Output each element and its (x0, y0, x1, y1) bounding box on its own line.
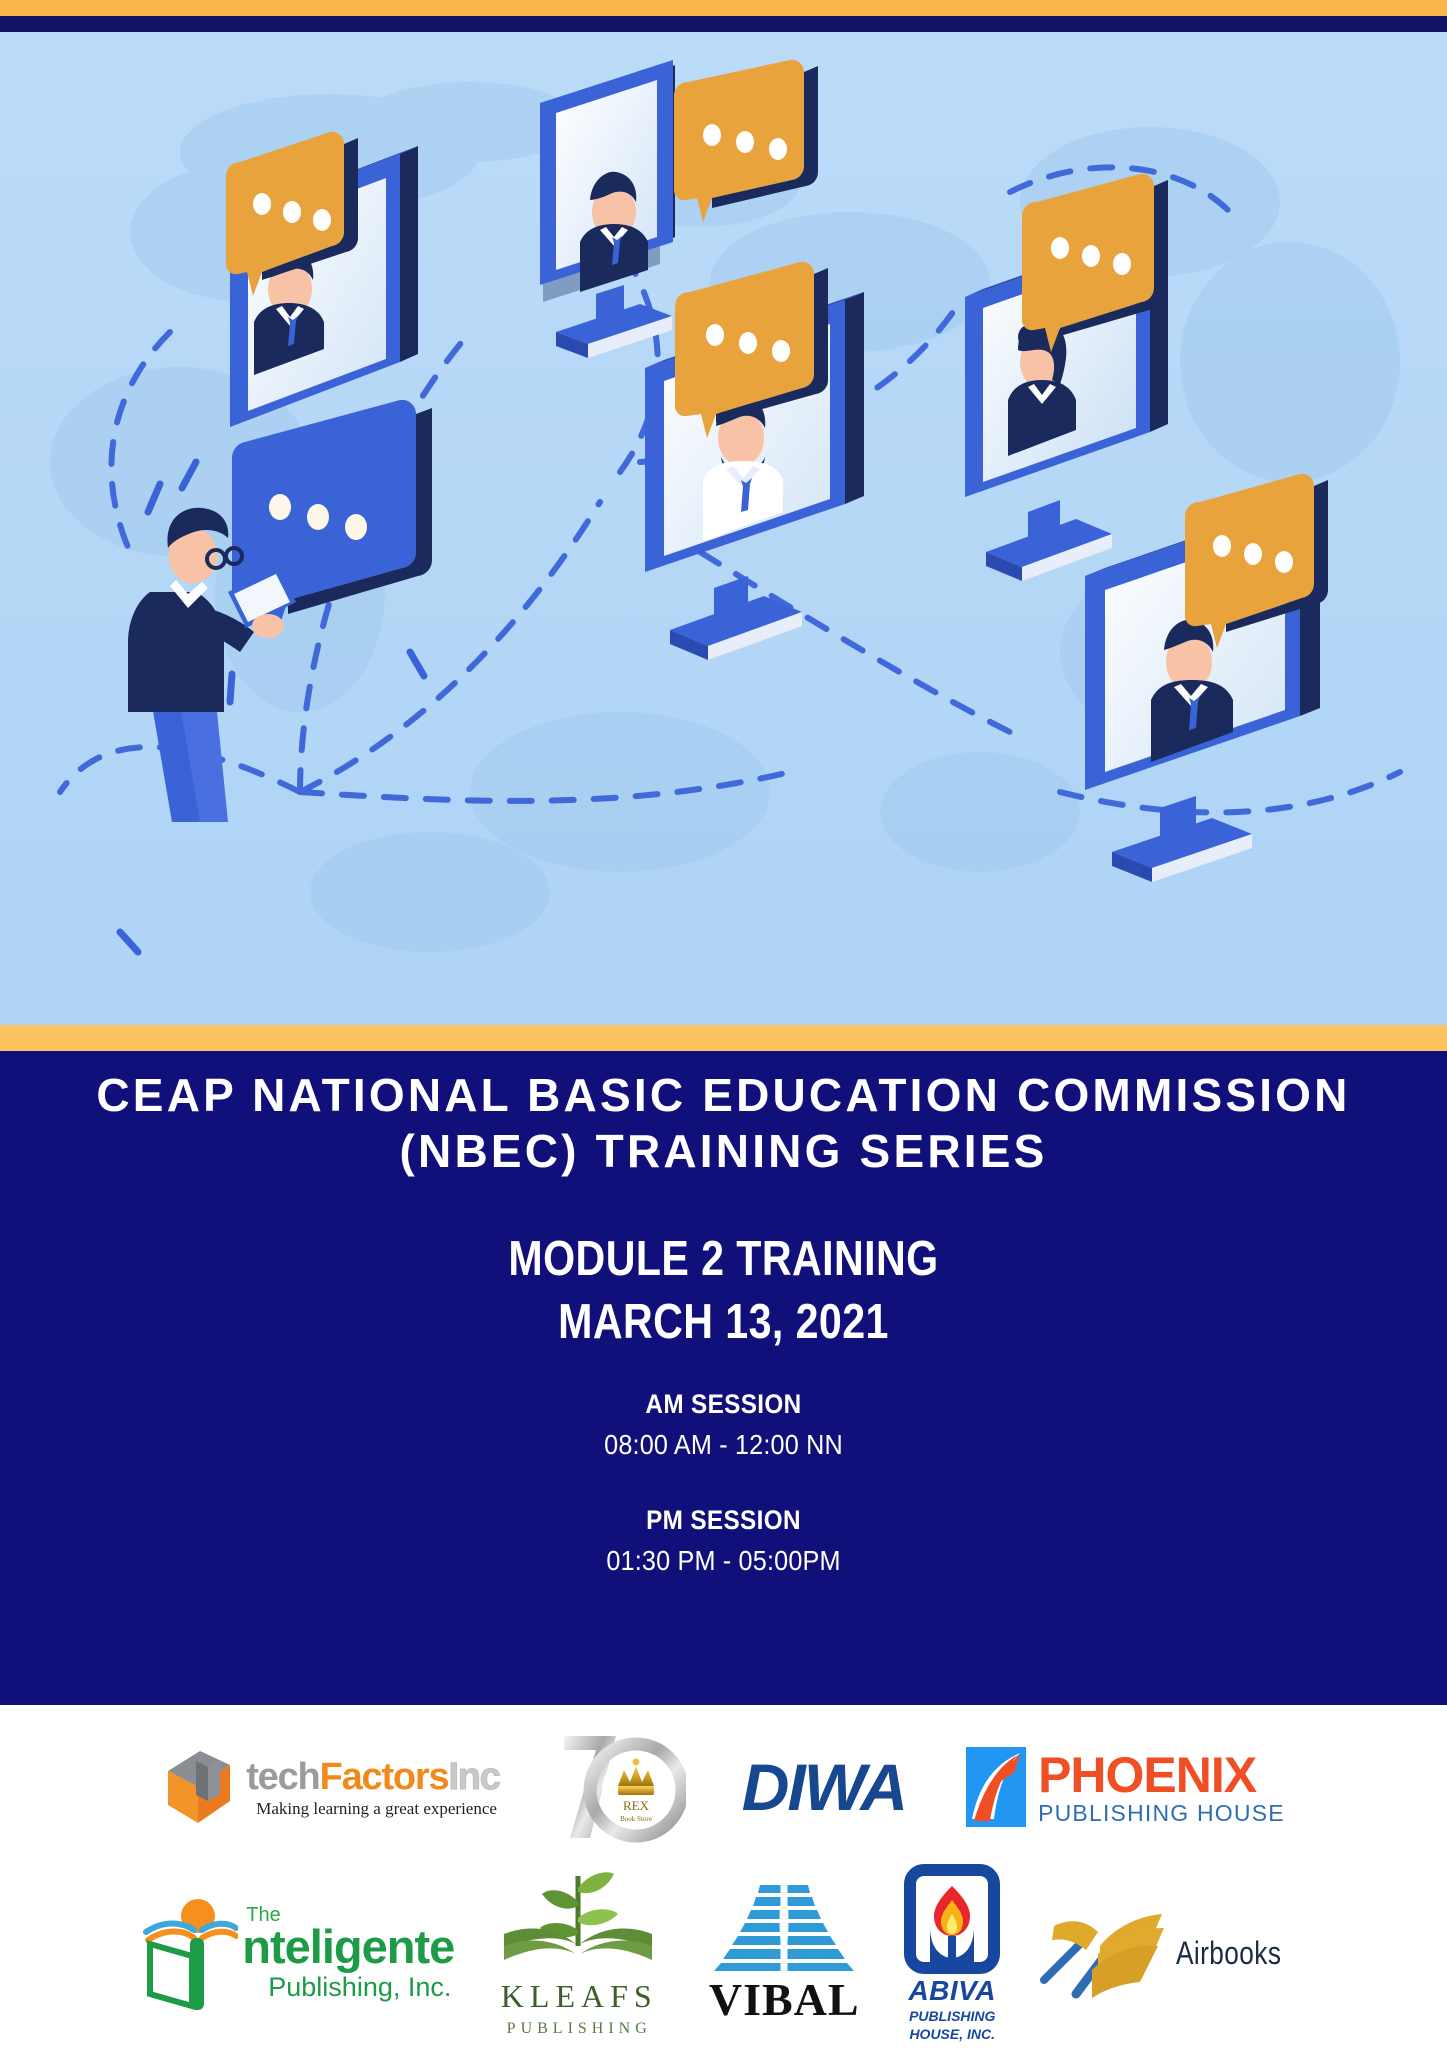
phoenix-wordmark: PHOENIX PUBLISHING HOUSE (1038, 1750, 1285, 1825)
monitor-upper-right (965, 174, 1168, 581)
abiva-subtitle-line-2: HOUSE, INC. (909, 2026, 995, 2042)
orange-cube-icon (162, 1745, 236, 1829)
rex-crown-label: REX (623, 1798, 650, 1813)
phoenix-bird-icon (962, 1743, 1030, 1831)
logo-techfactors: techFactorsInc Making learning a great e… (162, 1745, 500, 1829)
golden-flying-book-icon (1040, 1898, 1170, 2008)
title-line-2: (NBEC) TRAINING SERIES (0, 1123, 1447, 1179)
module-heading: MODULE 2 TRAINING MARCH 13, 2021 (116, 1228, 1331, 1353)
am-session-time: 08:00 AM - 12:00 NN (72, 1429, 1374, 1461)
mid-orange-bar (0, 1025, 1447, 1051)
logo-vibal: VIBAL (704, 1881, 864, 2026)
monitor-center (645, 262, 864, 660)
techfactors-tagline: Making learning a great experience (256, 1800, 497, 1817)
inteligente-subtitle: Publishing, Inc. (268, 1974, 454, 2001)
logo-rex-70: REX Book Store (556, 1728, 686, 1846)
hero-scene (0, 32, 1447, 1025)
rex-crown-70-icon: REX Book Store (556, 1728, 686, 1846)
hero-illustration (0, 32, 1447, 1025)
airbooks-name: Airbooks (1176, 1935, 1281, 1972)
session-spacer (0, 1461, 1447, 1505)
pm-session-label: PM SESSION (72, 1505, 1374, 1536)
flame-torch-icon (904, 1864, 1000, 1974)
phoenix-name: PHOENIX (1038, 1750, 1285, 1800)
abiva-name: ABIVA (908, 1975, 996, 2007)
diwa-wordmark: DIWA (742, 1749, 906, 1825)
logo-abiva: ABIVA PUBLISHING HOUSE, INC. (904, 1864, 1000, 2041)
module-line-1: MODULE 2 TRAINING (116, 1228, 1331, 1291)
page-title: CEAP NATIONAL BASIC EDUCATION COMMISSION… (0, 1067, 1447, 1179)
phoenix-subtitle: PUBLISHING HOUSE (1038, 1802, 1285, 1825)
techfactors-name: techFactorsInc (246, 1758, 500, 1796)
techfactors-wordmark: techFactorsInc Making learning a great e… (246, 1758, 500, 1817)
tf-tech: tech (246, 1756, 319, 1798)
monitor-lower-right (1085, 474, 1328, 882)
rex-crown-sublabel: Book Store (620, 1815, 652, 1823)
module-date: MARCH 13, 2021 (116, 1291, 1331, 1354)
am-session-label: AM SESSION (72, 1389, 1374, 1420)
logo-kleafs: KLEAFS PUBLISHING (494, 1868, 664, 2038)
kleafs-subtitle: PUBLISHING (507, 2020, 652, 2038)
kleafs-name: KLEAFS (501, 1978, 658, 2015)
sponsor-logos-footer: techFactorsInc Making learning a great e… (0, 1705, 1447, 2048)
inteligente-name: nteligente (242, 1923, 454, 1970)
speech-bubble-orange (674, 60, 818, 222)
logo-row-1: techFactorsInc Making learning a great e… (0, 1717, 1447, 1857)
abiva-subtitle-line-1: PUBLISHING (909, 2008, 995, 2024)
sessions-block: AM SESSION 08:00 AM - 12:00 NN PM SESSIO… (0, 1389, 1447, 1577)
striped-open-book-icon (704, 1881, 864, 1973)
logo-phoenix: PHOENIX PUBLISHING HOUSE (962, 1743, 1285, 1831)
tf-inc: Inc (448, 1756, 499, 1798)
top-navy-bar (0, 16, 1447, 32)
logo-row-2: The nteligente Publishing, Inc. (0, 1863, 1447, 2043)
poster: CEAP NATIONAL BASIC EDUCATION COMMISSION… (0, 0, 1447, 2048)
info-panel: CEAP NATIONAL BASIC EDUCATION COMMISSION… (0, 1051, 1447, 1705)
sprout-book-icon (494, 1868, 664, 1976)
title-line-1: CEAP NATIONAL BASIC EDUCATION COMMISSION (0, 1067, 1447, 1123)
vibal-name: VIBAL (709, 1973, 860, 2026)
top-orange-bar (0, 0, 1447, 16)
inteligente-wordmark: The nteligente Publishing, Inc. (242, 1905, 454, 2001)
logo-airbooks: Airbooks (1040, 1898, 1305, 2008)
book-sun-icon (142, 1894, 238, 2012)
tf-factors: Factors (320, 1756, 449, 1798)
pm-session-time: 01:30 PM - 05:00PM (72, 1545, 1374, 1577)
logo-diwa: DIWA (742, 1749, 906, 1825)
logo-inteligente: The nteligente Publishing, Inc. (142, 1894, 454, 2012)
